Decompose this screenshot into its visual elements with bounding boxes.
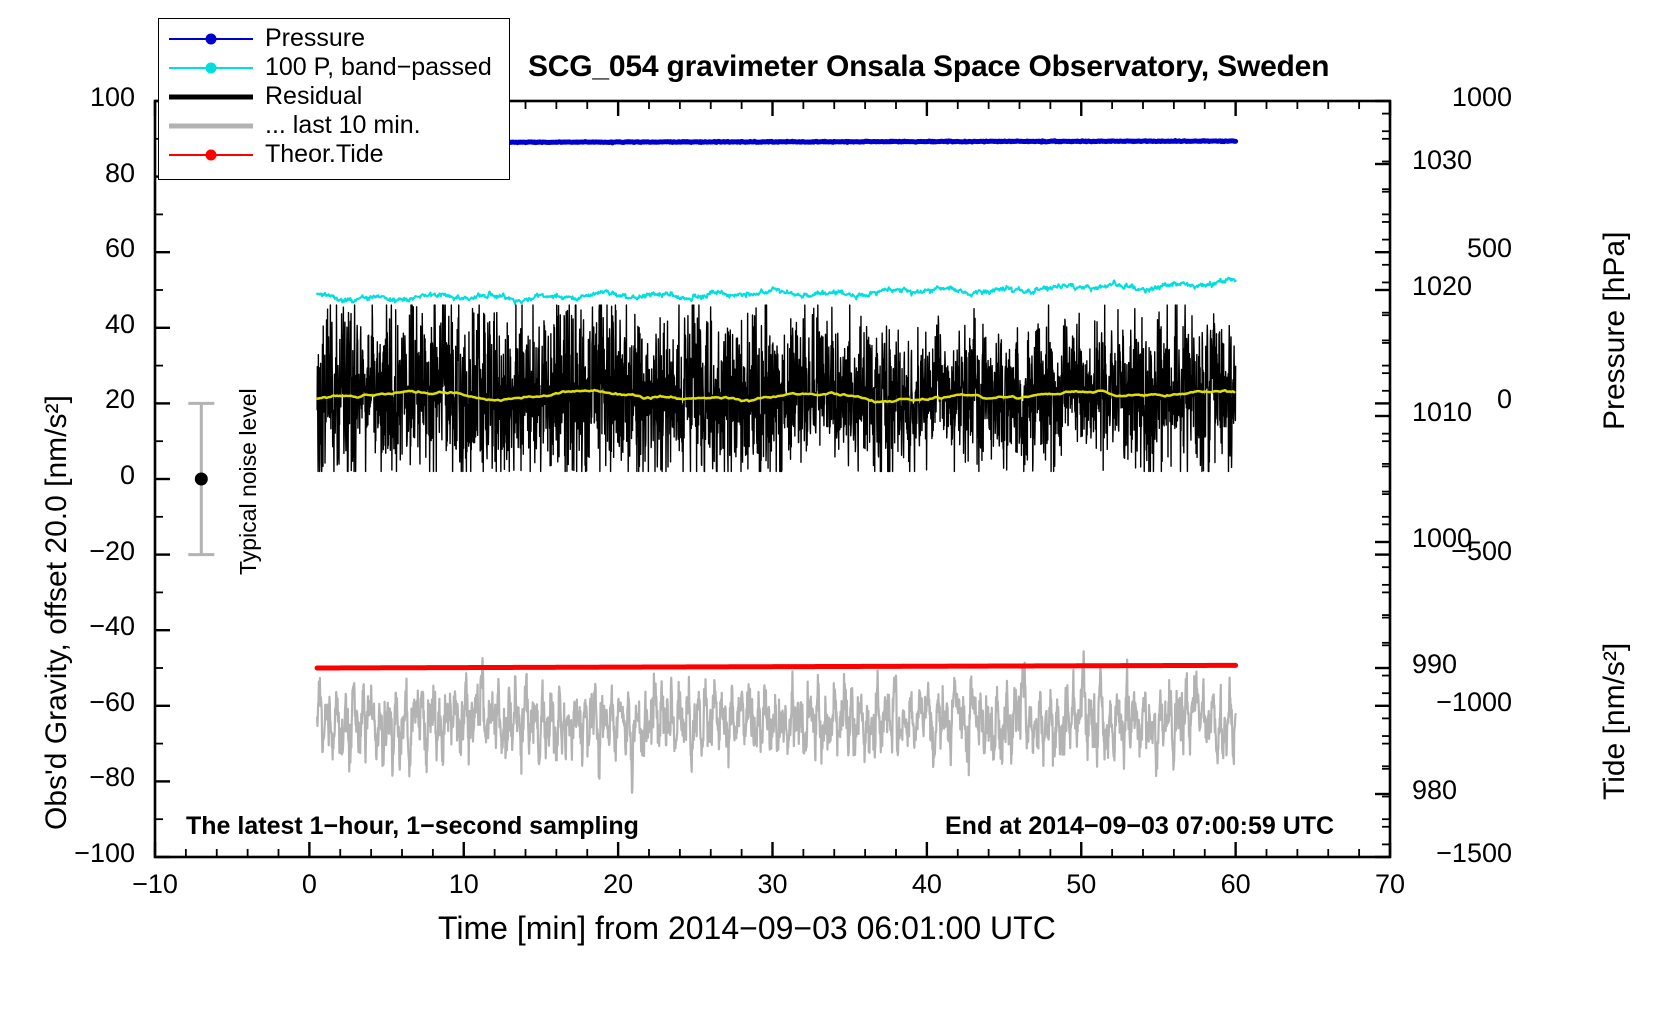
legend-item-pressure: Pressure xyxy=(163,24,505,53)
ticks-tide-label: −1000 xyxy=(1412,687,1512,718)
legend-swatch xyxy=(163,53,259,82)
footer-note-end-time: End at 2014−09−03 07:00:59 UTC xyxy=(945,812,1334,841)
legend-swatch xyxy=(163,140,259,169)
ticks-left-label: 100 xyxy=(55,82,135,113)
ticks-tide-label: 0 xyxy=(1412,384,1512,415)
legend-item-residual: Residual xyxy=(163,82,505,111)
legend: Pressure100 P, band−passedResidual... la… xyxy=(158,18,510,180)
legend-line xyxy=(169,123,253,128)
ticks-bottom-label: 20 xyxy=(568,869,668,900)
ticks-bottom-label: 40 xyxy=(877,869,977,900)
legend-marker-dot xyxy=(206,33,217,44)
ticks-left-label: −80 xyxy=(55,762,135,793)
ticks-left-label: 0 xyxy=(55,460,135,491)
legend-line xyxy=(169,94,253,99)
ticks-left-label: −60 xyxy=(55,687,135,718)
legend-item-theor-tide: Theor.Tide xyxy=(163,140,505,169)
legend-label: Residual xyxy=(259,82,362,111)
ticks-bottom-label: 30 xyxy=(723,869,823,900)
ticks-left-label: −40 xyxy=(55,611,135,642)
ticks-pres-label: 980 xyxy=(1412,775,1502,806)
ticks-pres-label: 1030 xyxy=(1412,145,1502,176)
ticks-bottom-label: −10 xyxy=(105,869,205,900)
legend-swatch xyxy=(163,82,259,111)
legend-label: Theor.Tide xyxy=(259,140,384,169)
footer-note-sampling: The latest 1−hour, 1−second sampling xyxy=(186,812,639,841)
ticks-bottom-label: 60 xyxy=(1186,869,1286,900)
ticks-tide-label: 500 xyxy=(1412,233,1512,264)
ticks-pres-label: 1020 xyxy=(1412,271,1502,302)
ticks-bottom-label: 50 xyxy=(1031,869,1131,900)
typical-noise-level-label: Typical noise level xyxy=(235,388,262,575)
ticks-left-label: 80 xyxy=(55,158,135,189)
ticks-bottom-label: 0 xyxy=(259,869,359,900)
legend-marker-dot xyxy=(206,62,217,73)
legend-item-100-p-band-passed: 100 P, band−passed xyxy=(163,53,505,82)
ticks-tide-label: −500 xyxy=(1412,536,1512,567)
legend-swatch xyxy=(163,111,259,140)
legend-item-last-10-min: ... last 10 min. xyxy=(163,111,505,140)
ticks-left-label: 40 xyxy=(55,309,135,340)
ticks-tide-label: −1500 xyxy=(1412,838,1512,869)
legend-label: 100 P, band−passed xyxy=(259,53,492,82)
ticks-left-label: 20 xyxy=(55,384,135,415)
legend-label: Pressure xyxy=(259,24,365,53)
ticks-pres-label: 990 xyxy=(1412,649,1502,680)
ticks-bottom-label: 70 xyxy=(1340,869,1440,900)
ticks-left-label: −100 xyxy=(55,838,135,869)
legend-label: ... last 10 min. xyxy=(259,111,421,140)
ticks-tide-label: 1000 xyxy=(1412,82,1512,113)
legend-marker-dot xyxy=(206,149,217,160)
ticks-bottom-label: 10 xyxy=(414,869,514,900)
ticks-left-label: 60 xyxy=(55,233,135,264)
legend-swatch xyxy=(163,24,259,53)
ticks-left-label: −20 xyxy=(55,536,135,567)
